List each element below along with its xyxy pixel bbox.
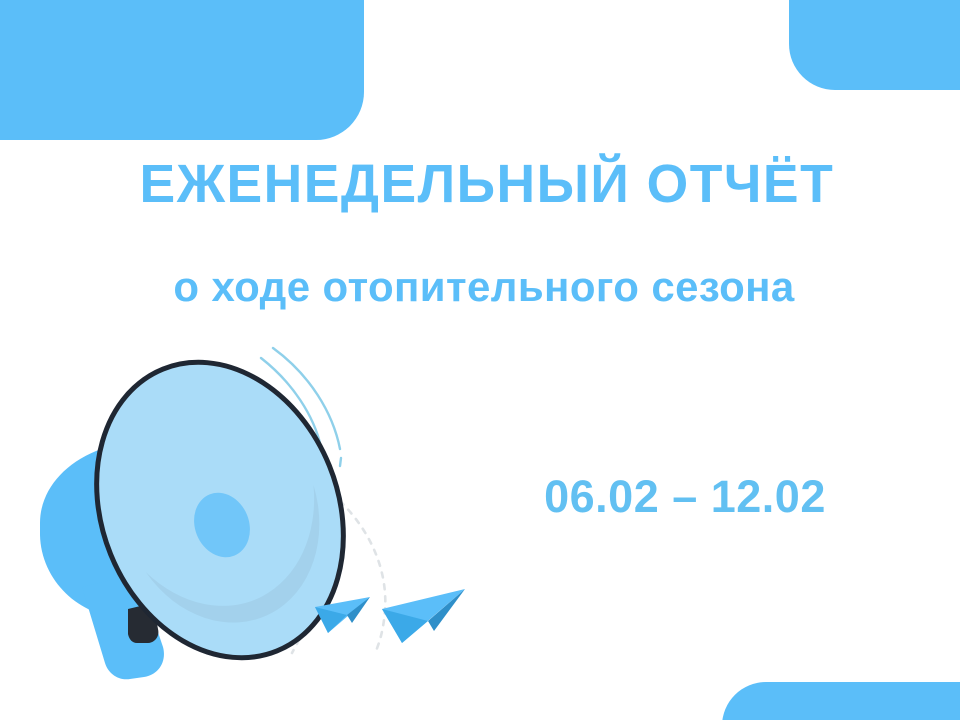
- decor-shape-bottom-right: [722, 682, 960, 720]
- decor-shape-top-left: [0, 0, 364, 140]
- date-range-label: 06.02 – 12.02: [519, 474, 851, 519]
- megaphone-illustration: [10, 325, 490, 695]
- page-subtitle: о ходе отопительного сезона: [0, 266, 960, 308]
- slide-canvas: ЕЖЕНЕДЕЛЬНЫЙ ОТЧЁТ о ходе отопительного …: [0, 0, 960, 720]
- page-title: ЕЖЕНЕДЕЛЬНЫЙ ОТЧЁТ: [5, 157, 955, 211]
- paper-plane-large: [382, 589, 465, 643]
- decor-shape-top-right: [789, 0, 960, 90]
